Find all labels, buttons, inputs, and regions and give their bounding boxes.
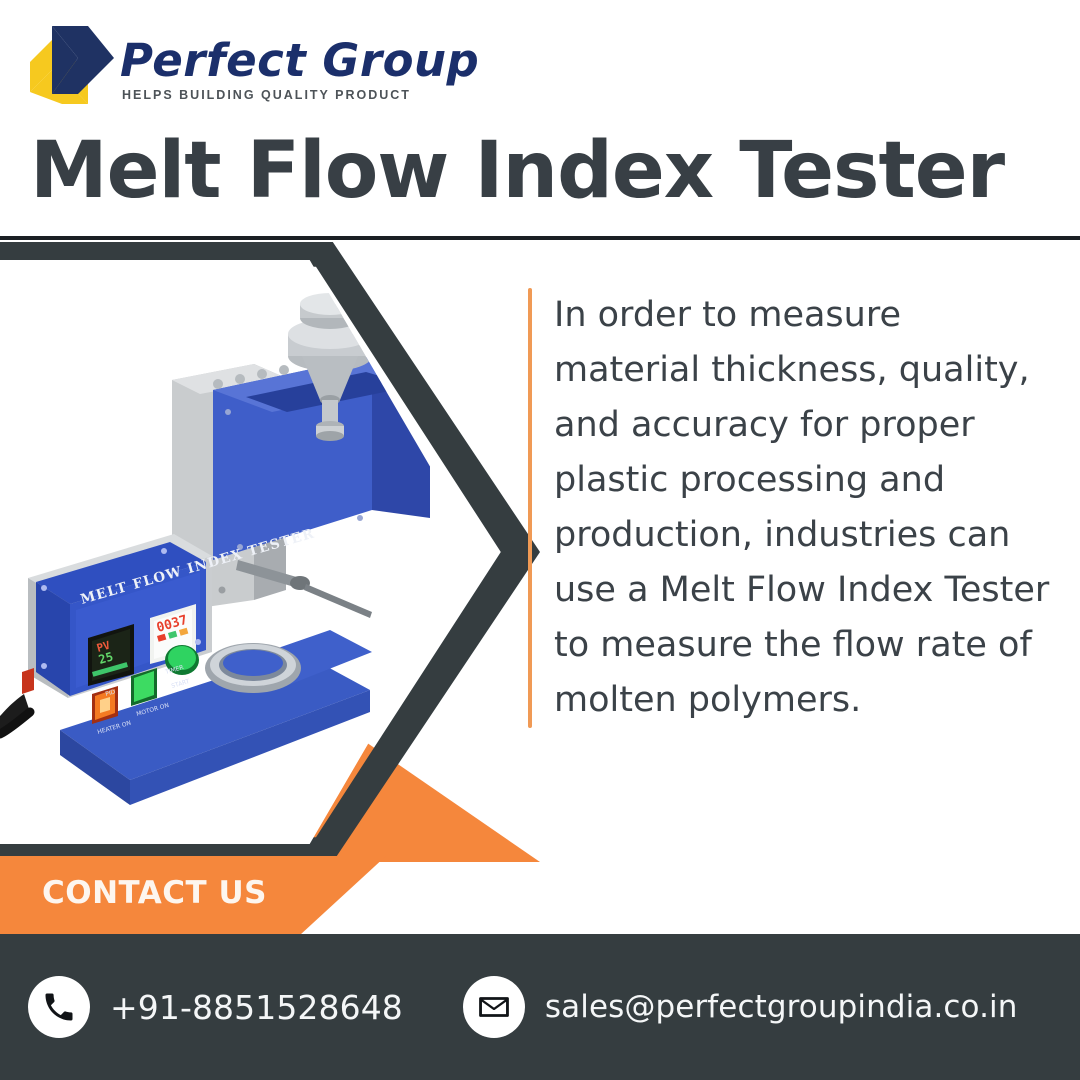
double-chevron-logo-icon [28, 24, 114, 106]
contact-us-label: CONTACT US [42, 875, 267, 911]
description-accent-bar [528, 288, 532, 728]
page-title: Melt Flow Index Tester [30, 132, 1060, 210]
brand-tagline: HELPS BUILDING QUALITY PRODUCT [122, 88, 411, 102]
melt-flow-index-tester-illustration: MELT FLOW INDEX TESTER PV 25 0037 [0, 260, 516, 844]
description-block: In order to measure material thickness, … [528, 288, 1056, 728]
brand-wordmark: Perfect Group HELPS BUILDING QUALITY PRO… [120, 38, 479, 106]
product-photo: MELT FLOW INDEX TESTER PV 25 0037 [0, 260, 516, 844]
contact-footer: +91-8851528648 sales@perfectgroupindia.c… [0, 934, 1080, 1080]
phone-number: +91-8851528648 [110, 988, 403, 1027]
product-poster: Perfect Group HELPS BUILDING QUALITY PRO… [0, 0, 1080, 1080]
phone-contact[interactable]: +91-8851528648 [28, 976, 403, 1038]
email-contact[interactable]: sales@perfectgroupindia.co.in [463, 976, 1018, 1038]
description-text: In order to measure material thickness, … [554, 288, 1056, 728]
phone-icon [28, 976, 90, 1038]
product-image-frame: MELT FLOW INDEX TESTER PV 25 0037 [0, 242, 540, 862]
brand-name: Perfect Group [120, 38, 479, 83]
contact-us-banner: CONTACT US [0, 856, 386, 934]
email-address: sales@perfectgroupindia.co.in [545, 989, 1018, 1025]
brand-logo: Perfect Group HELPS BUILDING QUALITY PRO… [28, 24, 479, 106]
envelope-icon [463, 976, 525, 1038]
title-divider [0, 236, 1080, 240]
